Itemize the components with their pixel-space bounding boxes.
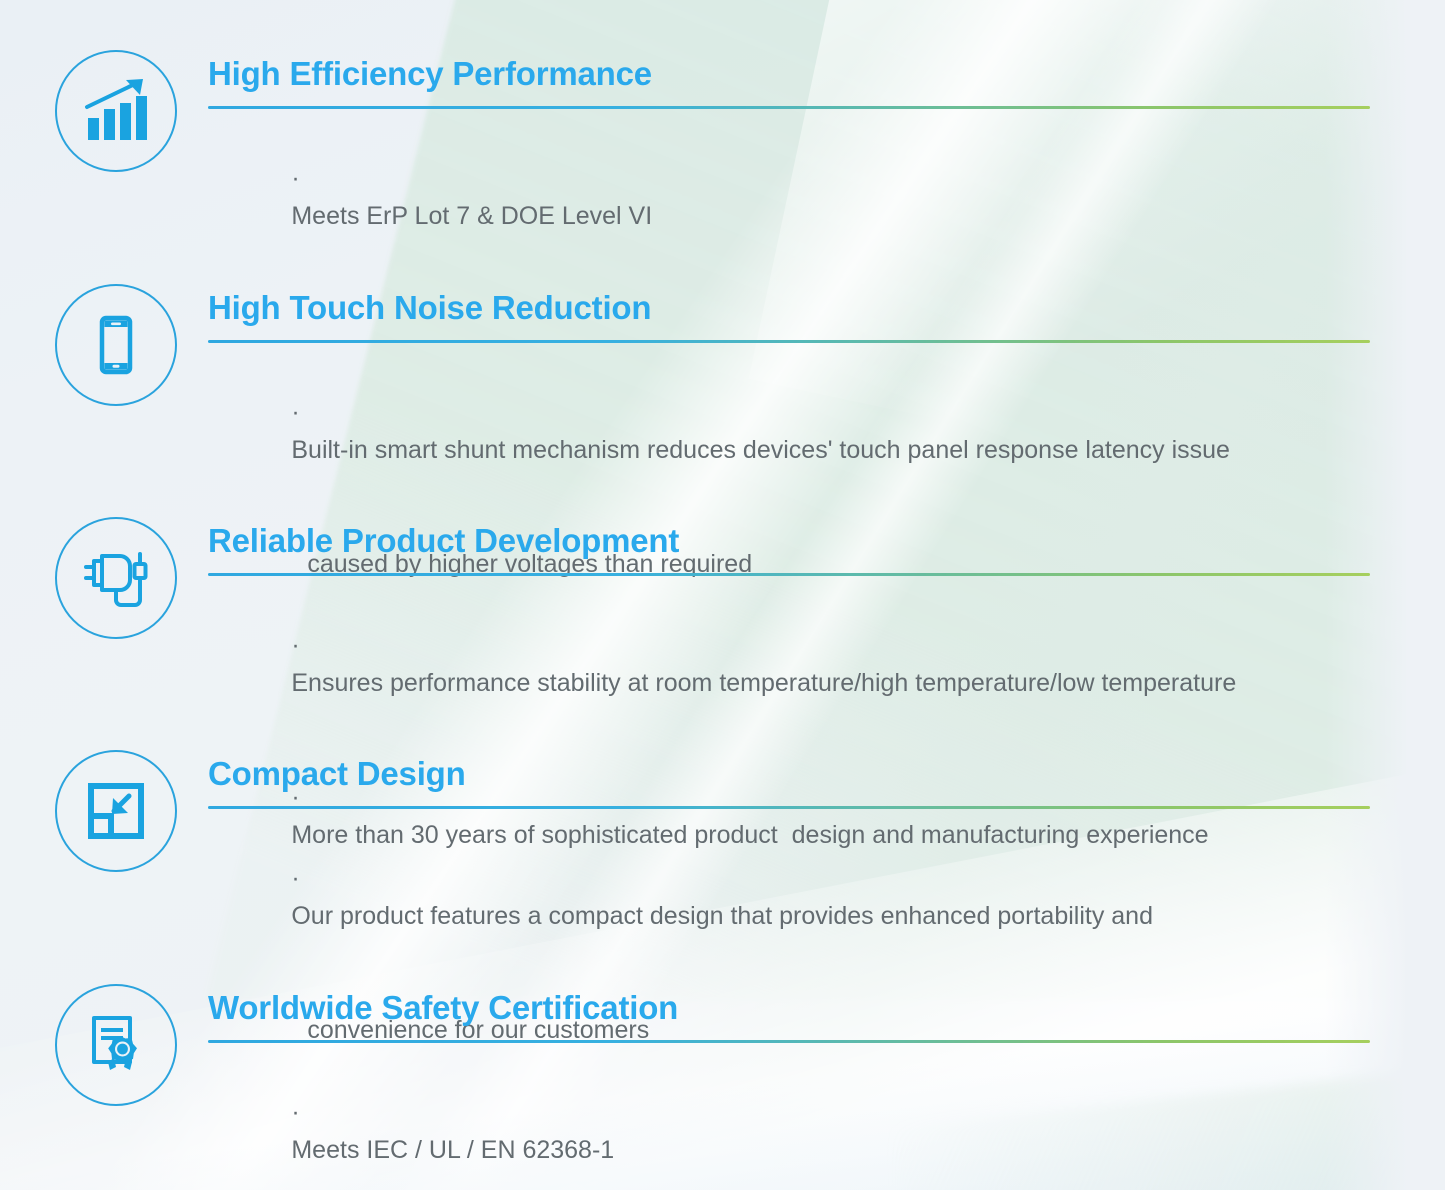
feature-description: · Meets ErP Lot 7 & DOE Level VI [208, 121, 1370, 273]
bullet-text: Ensures performance stability at room te… [291, 669, 1236, 697]
smartphone-icon [55, 284, 177, 406]
feature-title: Compact Design [208, 754, 1370, 794]
feature-item-high-efficiency-performance: High Efficiency Performance · Meets ErP … [52, 48, 1372, 273]
compact-resize-icon [55, 750, 177, 872]
feature-icon-wrapper [52, 282, 180, 406]
feature-divider [208, 106, 1370, 109]
feature-description: · Meets IEC / UL / EN 62368-1 [208, 1055, 1370, 1190]
feature-bullet-line: · Built-in smart shunt mechanism reduces… [208, 355, 1370, 507]
feature-item-worldwide-safety-certification: Worldwide Safety Certification · Meets I… [52, 982, 1372, 1190]
bullet-text: Our product features a compact design th… [291, 902, 1153, 930]
feature-title: High Efficiency Performance [208, 54, 1370, 94]
bar-chart-growth-icon [55, 50, 177, 172]
feature-divider [208, 806, 1370, 809]
feature-icon-wrapper [52, 48, 180, 172]
bullet-text: Meets IEC / UL / EN 62368-1 [291, 1136, 614, 1164]
feature-divider [208, 1040, 1370, 1043]
bullet-glyph: · [291, 864, 301, 892]
feature-icon-wrapper [52, 515, 180, 639]
feature-highlights-page: High Efficiency Performance · Meets ErP … [0, 0, 1445, 1190]
feature-title: High Touch Noise Reduction [208, 288, 1370, 328]
feature-body: Worldwide Safety Certification · Meets I… [180, 982, 1370, 1190]
bullet-glyph: · [291, 398, 301, 426]
feature-bullet-line: · Meets ErP Lot 7 & DOE Level VI [208, 121, 1370, 273]
bullet-text: Built-in smart shunt mechanism reduces d… [291, 436, 1230, 464]
feature-divider [208, 340, 1370, 343]
certificate-award-icon [55, 984, 177, 1106]
feature-bullet-line: · Meets IEC / UL / EN 62368-1 [208, 1055, 1370, 1190]
feature-icon-wrapper [52, 982, 180, 1106]
bullet-glyph: · [291, 164, 301, 192]
feature-title: Reliable Product Development [208, 521, 1370, 561]
bullet-glyph: · [291, 631, 301, 659]
feature-bullet-line: · Ensures performance stability at room … [208, 588, 1370, 740]
feature-title: Worldwide Safety Certification [208, 988, 1370, 1028]
feature-icon-wrapper [52, 748, 180, 872]
feature-divider [208, 573, 1370, 576]
power-adapter-icon [55, 517, 177, 639]
feature-bullet-line: · Our product features a compact design … [208, 821, 1370, 973]
feature-body: High Efficiency Performance · Meets ErP … [180, 48, 1370, 273]
bullet-glyph: · [291, 1098, 301, 1126]
bullet-text: Meets ErP Lot 7 & DOE Level VI [291, 202, 652, 230]
